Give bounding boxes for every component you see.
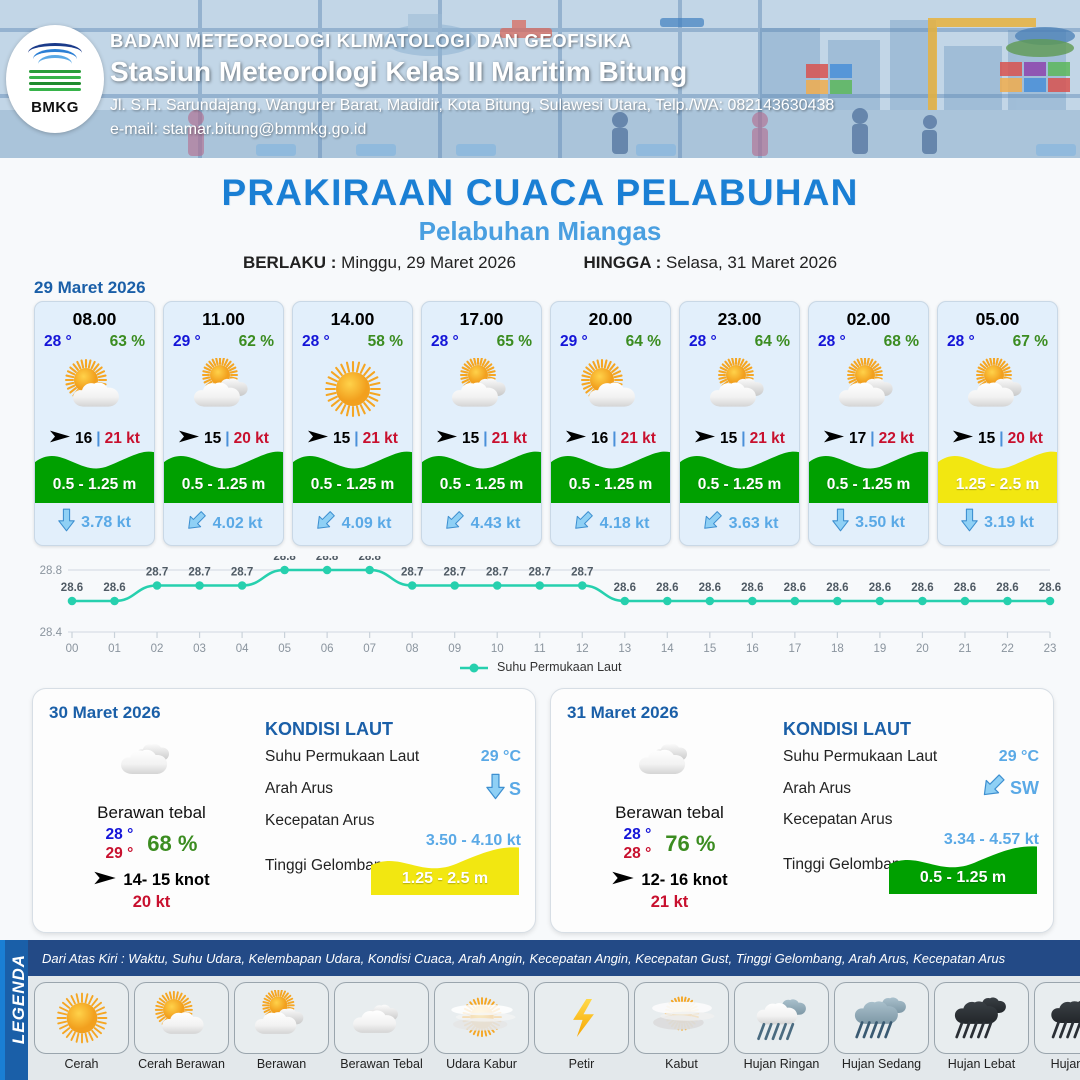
wave-height: 0.5 - 1.25 m [680, 476, 799, 494]
wave-height: 1.25 - 2.5 m [938, 476, 1057, 494]
card-temperature: 28 ° [689, 333, 717, 351]
panel-temp-max: 28 ° [624, 844, 652, 863]
legend-items: Cerah Cerah Berawan [34, 982, 1080, 1071]
panel-temp-range: 28 ° 28 ° [624, 825, 652, 864]
legend-item: Hujan Lebat [934, 982, 1029, 1071]
header-text-block: BADAN METEOROLOGI KLIMATOLOGI DAN GEOFIS… [110, 30, 834, 139]
card-wave-band: 0.5 - 1.25 m [35, 441, 154, 503]
overcast-icon [567, 727, 772, 789]
panel-temp-min: 28 ° [624, 825, 652, 844]
partly-cloudy-icon [134, 982, 229, 1054]
legend-item: Hujan Ringan [734, 982, 829, 1071]
arrow-sw-icon [443, 510, 465, 537]
card-humidity: 68 % [884, 333, 919, 351]
legend-side-bar: LEGENDA [0, 940, 28, 1080]
forecast-card[interactable]: 17.00 28 ° 65 % 15 | [421, 301, 542, 546]
cloudy-sun-icon [164, 353, 283, 425]
card-time: 20.00 [551, 309, 670, 330]
card-current: 3.19 kt [938, 508, 1057, 537]
legend-item: Udara Kabur [434, 982, 529, 1071]
panel-wave-value: 1.25 - 2.5 m [371, 870, 519, 888]
wind-direction-icon [611, 870, 635, 891]
card-humidity: 62 % [239, 333, 274, 351]
panel-wind: 12- 16 knot [567, 870, 772, 891]
arrow-sw-icon [572, 510, 594, 537]
svg-text:28.7: 28.7 [188, 567, 210, 579]
svg-text:28.4: 28.4 [40, 627, 63, 639]
card-temperature: 28 ° [44, 333, 72, 351]
card-humidity: 67 % [1013, 333, 1048, 351]
card-time: 23.00 [680, 309, 799, 330]
legend-item-label: Cerah Berawan [134, 1057, 229, 1071]
legend-item-label: Hujan Lebat [934, 1057, 1029, 1071]
light-rain-icon [734, 982, 829, 1054]
panel-wave-block: 1.25 - 2.5 m [371, 841, 519, 895]
page-header: BMKG BADAN METEOROLOGI KLIMATOLOGI DAN G… [0, 0, 1080, 158]
overcast-icon [334, 982, 429, 1054]
svg-text:01: 01 [108, 643, 121, 655]
station-name: Stasiun Meteorologi Kelas II Maritim Bit… [110, 56, 834, 88]
logo-waves-icon [29, 68, 81, 98]
legend-item: Petir [534, 982, 629, 1071]
card-wave-band: 0.5 - 1.25 m [422, 441, 541, 503]
chart-legend: Suhu Permukaan Laut [0, 660, 1080, 674]
legend-item-label: Hujan Petir [1034, 1057, 1080, 1071]
card-temperature: 28 ° [302, 333, 330, 351]
svg-text:08: 08 [406, 643, 419, 655]
wave-height: 0.5 - 1.25 m [551, 476, 670, 494]
svg-text:28.6: 28.6 [954, 582, 976, 594]
svg-text:28.7: 28.7 [486, 567, 508, 579]
current-speed: 4.09 kt [342, 515, 392, 533]
current-speed: 4.18 kt [600, 515, 650, 533]
station-email: e-mail: stamar.bitung@bmmkg.go.id [110, 121, 834, 139]
svg-text:28.6: 28.6 [741, 582, 763, 594]
current-speed: 3.63 kt [729, 515, 779, 533]
card-temp-humidity: 28 ° 58 % [293, 330, 412, 351]
sea-conditions-title: KONDISI LAUT [265, 719, 521, 740]
berlaku-value: Minggu, 29 Maret 2026 [341, 253, 516, 272]
svg-text:10: 10 [491, 643, 504, 655]
station-address: Jl. S.H. Sarundajang, Wangurer Barat, Ma… [110, 97, 834, 115]
legend-item-label: Cerah [34, 1057, 129, 1071]
svg-text:02: 02 [151, 643, 164, 655]
svg-text:28.6: 28.6 [784, 582, 806, 594]
card-humidity: 64 % [626, 333, 661, 351]
daily-forecast-panel[interactable]: 30 Maret 2026 Berawan tebal 28 ° [32, 688, 536, 933]
card-wave-band: 0.5 - 1.25 m [551, 441, 670, 503]
current-speed-label: Kecepatan Arus [265, 812, 374, 830]
sst-chart: 28.828.400010203040506070809101112131415… [20, 556, 1065, 676]
svg-text:11: 11 [534, 643, 546, 655]
card-time: 11.00 [164, 309, 283, 330]
svg-text:00: 00 [66, 643, 79, 655]
card-wave-band: 0.5 - 1.25 m [809, 441, 928, 503]
panel-temps: 28 ° 29 ° 68 % [49, 825, 254, 864]
wind-direction-icon [93, 870, 117, 891]
forecast-card[interactable]: 08.00 28 ° 63 % 16 | 2 [34, 301, 155, 546]
legend-item: Berawan Tebal [334, 982, 429, 1071]
chart-legend-label: Suhu Permukaan Laut [497, 660, 621, 674]
svg-text:28.7: 28.7 [146, 567, 168, 579]
svg-text:19: 19 [874, 643, 887, 655]
svg-text:12: 12 [576, 643, 589, 655]
cloudy-sun-icon [234, 982, 329, 1054]
arrow-down-icon [832, 508, 849, 537]
haze-icon [434, 982, 529, 1054]
arrow-sw-icon [314, 510, 336, 537]
current-speed: 4.02 kt [213, 515, 263, 533]
card-time: 17.00 [422, 309, 541, 330]
svg-text:28.6: 28.6 [656, 582, 678, 594]
card-wave-band: 1.25 - 2.5 m [938, 441, 1057, 503]
card-temp-humidity: 28 ° 63 % [35, 330, 154, 351]
svg-text:18: 18 [831, 643, 844, 655]
sst-value: 29 °C [481, 748, 521, 766]
panel-gust: 20 kt [49, 893, 254, 912]
card-temperature: 29 ° [173, 333, 201, 351]
svg-text:05: 05 [278, 643, 291, 655]
hingga-value: Selasa, 31 Maret 2026 [666, 253, 837, 272]
svg-text:07: 07 [363, 643, 376, 655]
card-time: 08.00 [35, 309, 154, 330]
lightning-icon [534, 982, 629, 1054]
svg-text:28.7: 28.7 [571, 567, 593, 579]
partly-cloudy-icon [551, 353, 670, 425]
sst-value: 29 °C [999, 748, 1039, 766]
cloudy-sun-icon [938, 353, 1057, 425]
sunny-icon [293, 353, 412, 425]
card-current: 4.18 kt [551, 510, 670, 537]
svg-text:06: 06 [321, 643, 334, 655]
sunny-icon [34, 982, 129, 1054]
moderate-rain-icon [834, 982, 929, 1054]
svg-text:28.8: 28.8 [316, 556, 339, 563]
current-direction-value: S [486, 773, 521, 805]
card-temp-humidity: 28 ° 67 % [938, 330, 1057, 351]
card-humidity: 63 % [110, 333, 145, 351]
svg-text:28.6: 28.6 [826, 582, 848, 594]
forecast-card[interactable]: 20.00 29 ° 64 % 16 | 2 [550, 301, 671, 546]
panel-wave-block: 0.5 - 1.25 m [889, 840, 1037, 894]
wave-height: 0.5 - 1.25 m [293, 476, 412, 494]
current-direction-text: S [509, 779, 521, 800]
card-current: 3.63 kt [680, 510, 799, 537]
arrow-sw-icon [701, 510, 723, 537]
arrow-down-icon [486, 773, 505, 805]
legend-item: Cerah [34, 982, 129, 1071]
panel-right: KONDISI LAUT Suhu Permukaan Laut 29 °C A… [783, 719, 1039, 874]
card-wave-band: 0.5 - 1.25 m [680, 441, 799, 503]
legend-item-label: Udara Kabur [434, 1057, 529, 1071]
svg-text:09: 09 [448, 643, 461, 655]
panel-condition: Berawan tebal [567, 803, 772, 823]
svg-text:28.6: 28.6 [61, 582, 83, 594]
card-temp-humidity: 29 ° 62 % [164, 330, 283, 351]
current-direction-value: SW [980, 773, 1039, 804]
card-current: 4.43 kt [422, 510, 541, 537]
fog-icon [634, 982, 729, 1054]
svg-text:20: 20 [916, 643, 929, 655]
legend-item: Kabut [634, 982, 729, 1071]
svg-text:17: 17 [788, 643, 801, 655]
card-current: 3.78 kt [35, 508, 154, 537]
panel-temp-range: 28 ° 29 ° [106, 825, 134, 864]
sst-label: Suhu Permukaan Laut [265, 748, 419, 766]
cloudy-sun-icon [809, 353, 928, 425]
svg-text:28.8: 28.8 [273, 556, 296, 563]
cloudy-sun-icon [422, 353, 541, 425]
forecast-date-label: 29 Maret 2026 [34, 278, 146, 298]
panel-temp-min: 28 ° [106, 825, 134, 844]
arrow-sw-icon [980, 773, 1006, 804]
svg-text:28.7: 28.7 [444, 567, 466, 579]
panel-temp-max: 29 ° [106, 844, 134, 863]
svg-text:15: 15 [703, 643, 716, 655]
panel-wave-value: 0.5 - 1.25 m [889, 869, 1037, 887]
card-temp-humidity: 28 ° 65 % [422, 330, 541, 351]
wave-height: 0.5 - 1.25 m [809, 476, 928, 494]
card-time: 05.00 [938, 309, 1057, 330]
hingga-label: HINGGA : [583, 253, 661, 272]
sst-row: Suhu Permukaan Laut 29 °C [783, 748, 1039, 766]
panel-wind-speed: 14- 15 knot [123, 871, 209, 890]
card-current: 4.09 kt [293, 510, 412, 537]
legend-area: LEGENDA Dari Atas Kiri : Waktu, Suhu Uda… [0, 940, 1080, 1080]
current-direction-text: SW [1010, 778, 1039, 799]
forecast-card[interactable]: 23.00 28 ° 64 % 15 | [679, 301, 800, 546]
card-temperature: 29 ° [560, 333, 588, 351]
panel-humidity: 76 % [665, 831, 715, 857]
panel-condition: Berawan tebal [49, 803, 254, 823]
cloudy-sun-icon [680, 353, 799, 425]
panel-left: Berawan tebal 28 ° 29 ° 68 % 14- 15 knot… [49, 727, 254, 912]
forecast-card[interactable]: 02.00 28 ° 68 % 17 | [808, 301, 929, 546]
legend-item: Cerah Berawan [134, 982, 229, 1071]
svg-text:28.6: 28.6 [1039, 582, 1061, 594]
panel-humidity: 68 % [147, 831, 197, 857]
arrow-down-icon [961, 508, 978, 537]
daily-forecast-panel[interactable]: 31 Maret 2026 Berawan tebal 28 ° [550, 688, 1054, 933]
svg-text:28.6: 28.6 [103, 582, 125, 594]
heavy-rain-icon [934, 982, 1029, 1054]
panel-left: Berawan tebal 28 ° 28 ° 76 % 12- 16 knot… [567, 727, 772, 912]
svg-text:28.7: 28.7 [401, 567, 423, 579]
card-humidity: 64 % [755, 333, 790, 351]
current-speed: 3.78 kt [81, 514, 131, 532]
current-direction-row: Arah Arus SW [783, 773, 1039, 804]
partly-cloudy-icon [35, 353, 154, 425]
card-temp-humidity: 29 ° 64 % [551, 330, 670, 351]
legend-item-label: Berawan [234, 1057, 329, 1071]
legend-item-label: Hujan Ringan [734, 1057, 829, 1071]
legend-item: Hujan Petir [1034, 982, 1080, 1071]
hourly-forecast-row: 08.00 28 ° 63 % 16 | 2 [34, 301, 1058, 546]
current-speed: 4.43 kt [471, 515, 521, 533]
overcast-icon [49, 727, 254, 789]
legend-item-label: Hujan Sedang [834, 1057, 929, 1071]
legend-item: Berawan [234, 982, 329, 1071]
current-speed: 3.19 kt [984, 514, 1034, 532]
legend-item-label: Kabut [634, 1057, 729, 1071]
panel-gust: 21 kt [567, 893, 772, 912]
sst-label: Suhu Permukaan Laut [783, 748, 937, 766]
svg-text:28.7: 28.7 [231, 567, 253, 579]
card-wave-band: 0.5 - 1.25 m [164, 441, 283, 503]
current-direction-label: Arah Arus [783, 780, 851, 798]
card-time: 02.00 [809, 309, 928, 330]
panel-temps: 28 ° 28 ° 76 % [567, 825, 772, 864]
bmkg-logo: BMKG [6, 25, 104, 133]
legend-item: Hujan Sedang [834, 982, 929, 1071]
wave-height: 0.5 - 1.25 m [422, 476, 541, 494]
arrow-down-icon [58, 508, 75, 537]
wave-height: 0.5 - 1.25 m [164, 476, 283, 494]
svg-text:23: 23 [1044, 643, 1057, 655]
page-title: PRAKIRAAN CUACA PELABUHAN [0, 172, 1080, 214]
svg-text:03: 03 [193, 643, 206, 655]
arrow-sw-icon [185, 510, 207, 537]
page-subtitle: Pelabuhan Miangas [0, 216, 1080, 247]
svg-text:13: 13 [618, 643, 631, 655]
card-temperature: 28 ° [431, 333, 459, 351]
forecast-card[interactable]: 14.00 28 ° 58 % 15 | 21 kt [292, 301, 413, 546]
card-time: 14.00 [293, 309, 412, 330]
svg-text:28.7: 28.7 [529, 567, 551, 579]
legend-marker-icon [459, 662, 489, 674]
card-current: 4.02 kt [164, 510, 283, 537]
legend-item-label: Petir [534, 1057, 629, 1071]
card-temperature: 28 ° [947, 333, 975, 351]
panel-wind-speed: 12- 16 knot [641, 871, 727, 890]
svg-text:04: 04 [236, 643, 249, 655]
current-direction-row: Arah Arus S [265, 773, 521, 805]
svg-text:28.6: 28.6 [869, 582, 891, 594]
svg-text:14: 14 [661, 643, 674, 655]
agency-name: BADAN METEOROLOGI KLIMATOLOGI DAN GEOFIS… [110, 30, 834, 52]
legend-note: Dari Atas Kiri : Waktu, Suhu Udara, Kele… [28, 940, 1080, 976]
card-current: 3.50 kt [809, 508, 928, 537]
svg-text:28.6: 28.6 [614, 582, 636, 594]
legend-side-label: LEGENDA [9, 943, 29, 1055]
legend-item-label: Berawan Tebal [334, 1057, 429, 1071]
forecast-card[interactable]: 05.00 28 ° 67 % 15 | [937, 301, 1058, 546]
panel-right: KONDISI LAUT Suhu Permukaan Laut 29 °C A… [265, 719, 521, 875]
current-speed: 3.50 kt [855, 514, 905, 532]
card-temp-humidity: 28 ° 68 % [809, 330, 928, 351]
current-speed-row: Kecepatan Arus [783, 811, 1039, 829]
svg-text:28.6: 28.6 [911, 582, 933, 594]
svg-text:28.6: 28.6 [996, 582, 1018, 594]
panel-wind: 14- 15 knot [49, 870, 254, 891]
daily-forecast-row: 30 Maret 2026 Berawan tebal 28 ° [32, 688, 1054, 933]
svg-text:28.8: 28.8 [358, 556, 381, 563]
svg-text:28.6: 28.6 [699, 582, 721, 594]
thunderstorm-icon [1034, 982, 1080, 1054]
svg-text:16: 16 [746, 643, 759, 655]
logo-arc-icon [28, 43, 82, 65]
card-humidity: 58 % [368, 333, 403, 351]
sst-row: Suhu Permukaan Laut 29 °C [265, 748, 521, 766]
current-speed-row: Kecepatan Arus [265, 812, 521, 830]
berlaku-label: BERLAKU : [243, 253, 337, 272]
logo-label: BMKG [31, 99, 79, 116]
svg-text:28.8: 28.8 [40, 565, 62, 577]
svg-text:21: 21 [959, 643, 972, 655]
current-speed-label: Kecepatan Arus [783, 811, 892, 829]
wave-height: 0.5 - 1.25 m [35, 476, 154, 494]
svg-text:22: 22 [1001, 643, 1014, 655]
sea-conditions-title: KONDISI LAUT [783, 719, 1039, 740]
current-direction-label: Arah Arus [265, 780, 333, 798]
card-wave-band: 0.5 - 1.25 m [293, 441, 412, 503]
sst-chart-svg: 28.828.400010203040506070809101112131415… [20, 556, 1065, 676]
card-humidity: 65 % [497, 333, 532, 351]
forecast-card[interactable]: 11.00 29 ° 62 % 15 | [163, 301, 284, 546]
validity-line: BERLAKU : Minggu, 29 Maret 2026 HINGGA :… [0, 253, 1080, 273]
card-temp-humidity: 28 ° 64 % [680, 330, 799, 351]
card-temperature: 28 ° [818, 333, 846, 351]
